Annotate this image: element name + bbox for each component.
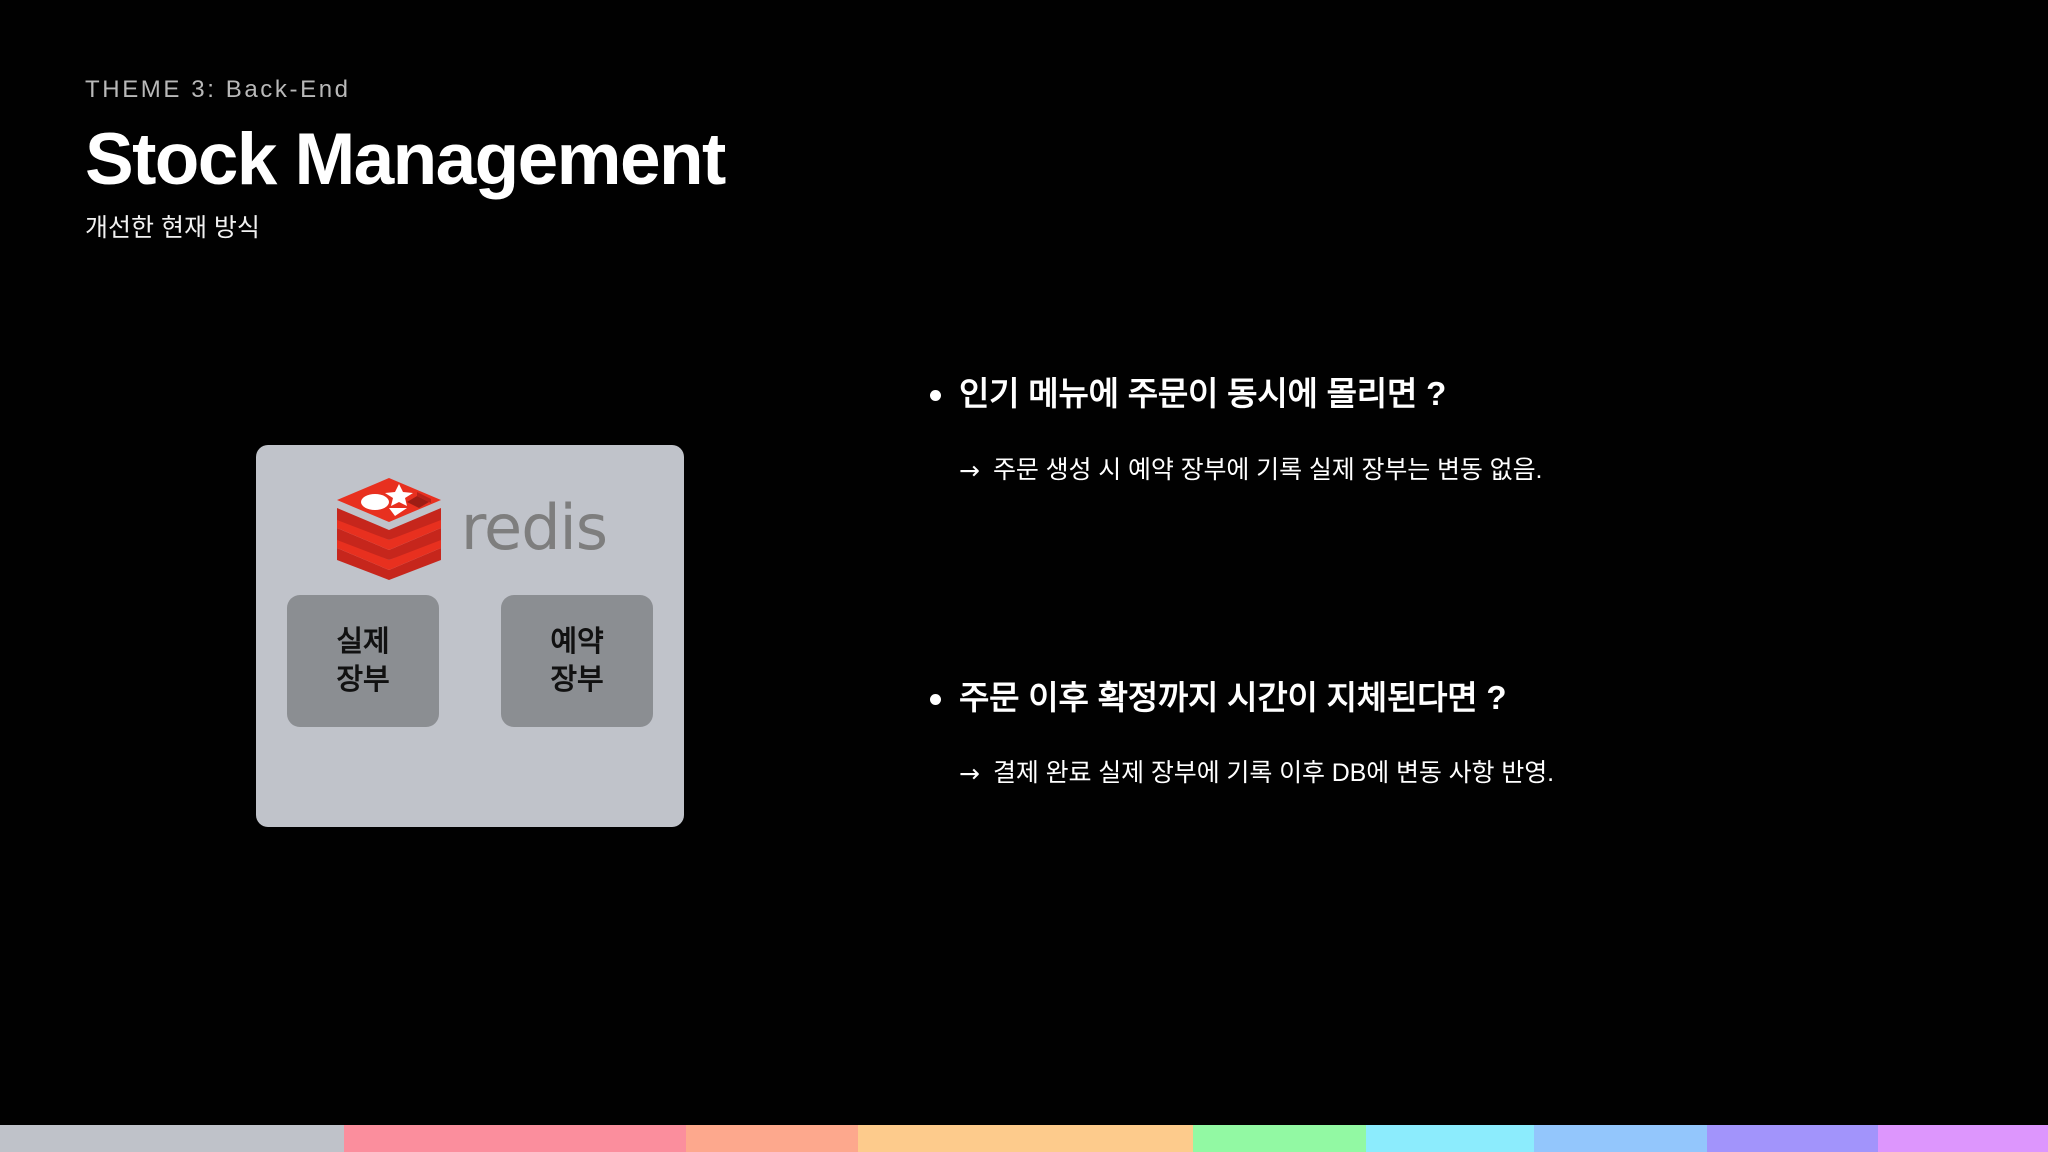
color-bar-segment-gray bbox=[0, 1125, 344, 1152]
color-bar-segment-pink bbox=[344, 1125, 686, 1152]
redis-diagram-card: redis 실제 장부 예약 장부 bbox=[256, 445, 684, 827]
bullet-row-1: 인기 메뉴에 주문이 동시에 몰리면 ? bbox=[930, 372, 1990, 417]
color-bar-segment-blue bbox=[1534, 1125, 1707, 1152]
color-bar-segment-salmon bbox=[686, 1125, 858, 1152]
page-subtitle: 개선한 현재 방식 bbox=[85, 212, 1285, 245]
content-column: 인기 메뉴에 주문이 동시에 몰리면 ? → 주문 생성 시 예약 장부에 기록… bbox=[930, 372, 1990, 791]
content-block-1: 인기 메뉴에 주문이 동시에 몰리면 ? → 주문 생성 시 예약 장부에 기록… bbox=[930, 372, 1990, 488]
slide-canvas: THEME 3: Back-End Stock Management 개선한 현… bbox=[0, 0, 2048, 1152]
slide-header: THEME 3: Back-End Stock Management 개선한 현… bbox=[85, 76, 1285, 245]
redis-logo-row: redis bbox=[256, 445, 684, 610]
bullet-detail-1: 주문 생성 시 예약 장부에 기록 실제 장부는 변동 없음. bbox=[993, 453, 1542, 488]
reserved-ledger-line2: 장부 bbox=[550, 661, 603, 699]
color-bar-segment-purple bbox=[1707, 1125, 1878, 1152]
arrow-right-icon: → bbox=[959, 756, 980, 791]
actual-ledger-line1: 실제 bbox=[336, 623, 389, 661]
color-bar-segment-cyan bbox=[1366, 1125, 1534, 1152]
color-bar-segment-magenta bbox=[1878, 1125, 2048, 1152]
bullet-row-2: 주문 이후 확정까지 시간이 지체된다면 ? bbox=[930, 676, 1990, 721]
arrow-right-icon: → bbox=[959, 453, 980, 488]
theme-eyebrow: THEME 3: Back-End bbox=[85, 76, 1285, 105]
bullet-dot-icon bbox=[930, 694, 941, 705]
sub-row-2: → 결제 완료 실제 장부에 기록 이후 DB에 변동 사항 반영. bbox=[959, 756, 1990, 791]
content-block-2: 주문 이후 확정까지 시간이 지체된다면 ? → 결제 완료 실제 장부에 기록… bbox=[930, 676, 1990, 792]
sub-row-1: → 주문 생성 시 예약 장부에 기록 실제 장부는 변동 없음. bbox=[959, 453, 1990, 488]
color-bar-segment-green bbox=[1193, 1125, 1366, 1152]
bullet-heading-1: 인기 메뉴에 주문이 동시에 몰리면 ? bbox=[959, 372, 1446, 417]
ledger-row: 실제 장부 예약 장부 bbox=[256, 595, 684, 727]
bottom-color-bar bbox=[0, 1125, 2048, 1152]
bullet-heading-2: 주문 이후 확정까지 시간이 지체된다면 ? bbox=[959, 676, 1506, 721]
actual-ledger-box: 실제 장부 bbox=[287, 595, 439, 727]
bullet-detail-2: 결제 완료 실제 장부에 기록 이후 DB에 변동 사항 반영. bbox=[993, 756, 1554, 791]
color-bar-segment-orange bbox=[858, 1125, 1193, 1152]
redis-logo-icon bbox=[333, 476, 445, 580]
page-title: Stock Management bbox=[85, 121, 1285, 198]
bullet-dot-icon bbox=[930, 390, 941, 401]
redis-wordmark: redis bbox=[461, 497, 607, 559]
reserved-ledger-box: 예약 장부 bbox=[501, 595, 653, 727]
reserved-ledger-line1: 예약 bbox=[550, 623, 603, 661]
actual-ledger-line2: 장부 bbox=[336, 661, 389, 699]
